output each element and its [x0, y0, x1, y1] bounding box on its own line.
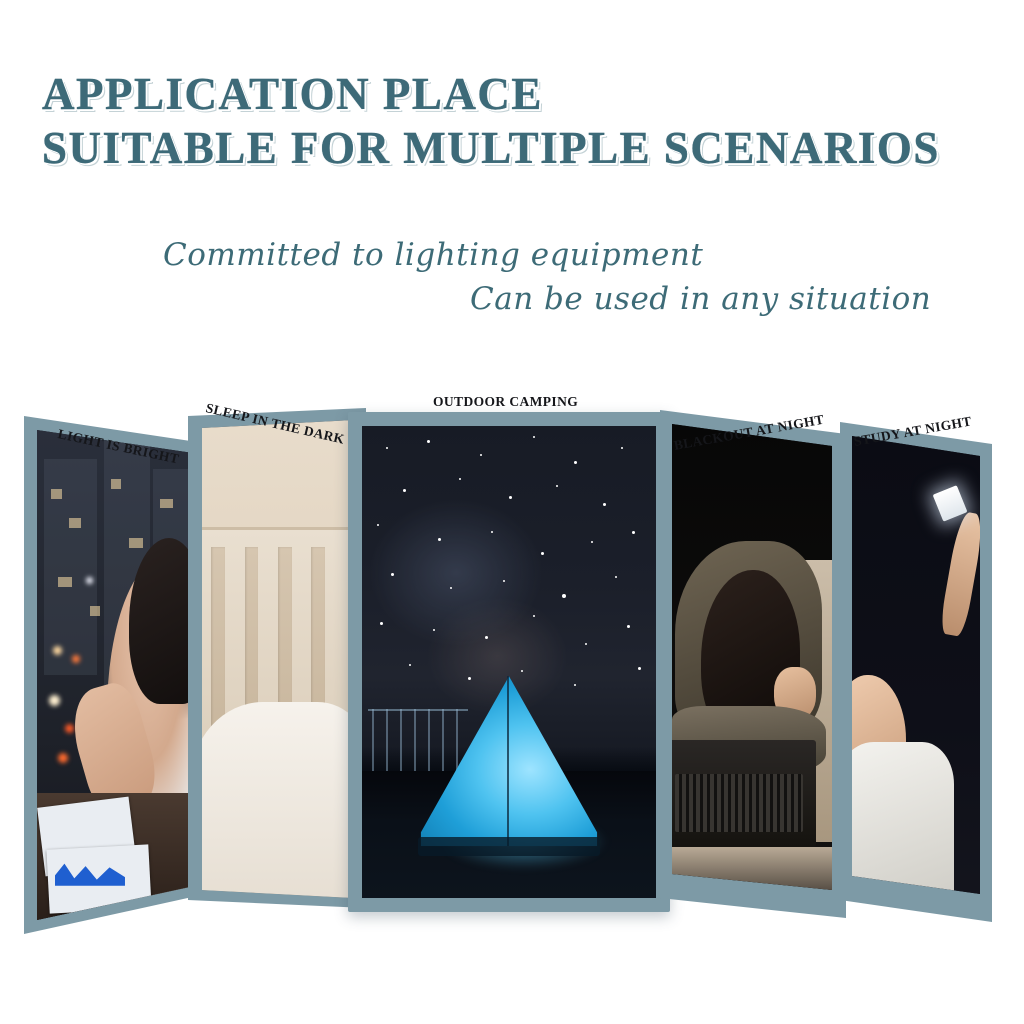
scenario-panel-4[interactable]: BLACKOUT AT NIGHT: [660, 410, 846, 970]
scenario-panel-5[interactable]: STUDY AT NIGHT: [840, 422, 996, 982]
poster-canvas: APPLICATION PLACE SUITABLE FOR MULTIPLE …: [0, 0, 1024, 1024]
scenario-panel-3[interactable]: OUTDOOR CAMPING: [348, 412, 670, 972]
panel-3-caption: OUTDOOR CAMPING: [433, 394, 578, 410]
subtitle-line-2: Can be used in any situation: [470, 281, 931, 317]
subtitle-line-1: Committed to lighting equipment: [163, 237, 703, 273]
panel-3-photo: [362, 426, 656, 898]
panel-1-photo: [37, 430, 213, 920]
scenario-panel-group: LIGHT IS BRIGHT: [0, 380, 1024, 960]
page-title-line-1: APPLICATION PLACE: [42, 72, 1002, 117]
scenario-panel-2[interactable]: SLEEP IN THE DARK: [188, 408, 366, 968]
panel-5-photo: [852, 436, 980, 914]
panel-2-photo: [202, 420, 354, 906]
railing: [368, 709, 468, 770]
page-title-line-2: SUITABLE FOR MULTIPLE SCENARIOS: [42, 126, 1002, 171]
panel-4-photo: [672, 424, 832, 910]
heading-block: APPLICATION PLACE SUITABLE FOR MULTIPLE …: [42, 72, 1002, 171]
